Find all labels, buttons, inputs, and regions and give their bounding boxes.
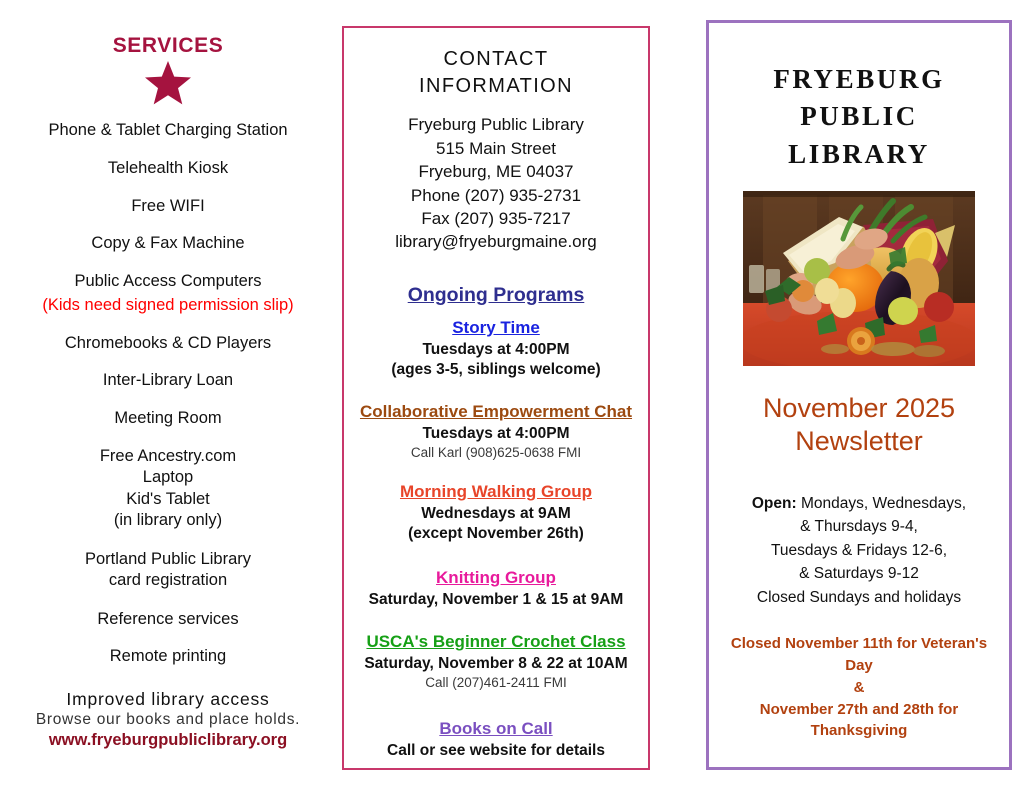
- hours-block: Open: Mondays, Wednesdays, & Thursdays 9…: [723, 492, 995, 610]
- program-contact-note: Call (207)461-2411 FMI: [356, 674, 636, 692]
- service-item: Reference services: [0, 609, 336, 630]
- hours-line: & Saturdays 9-12: [723, 562, 995, 586]
- title-line-public: PUBLIC: [723, 98, 995, 135]
- services-panel: SERVICES Phone & Tablet Charging Station…: [0, 30, 336, 770]
- service-device-line: Laptop: [0, 467, 336, 488]
- hours-open-label: Open:: [752, 495, 797, 512]
- star-icon: [0, 60, 336, 106]
- improved-access-subtext: Browse our books and place holds.: [0, 711, 336, 729]
- service-item: Free WIFI: [0, 196, 336, 217]
- closure-veterans-day: Closed November 11th for Veteran's Day: [723, 633, 995, 677]
- improved-access-heading: Improved library access: [0, 689, 336, 710]
- contact-fax: Fax (207) 935-7217: [356, 207, 636, 230]
- services-list: Phone & Tablet Charging Station Teleheal…: [0, 120, 336, 750]
- service-device-line: Kid's Tablet: [0, 489, 336, 510]
- service-item-public-computers: Public Access Computers: [0, 271, 336, 292]
- page-title: FRYEBURG PUBLIC LIBRARY: [723, 61, 995, 173]
- library-website-url[interactable]: www.fryeburgpubliclibrary.org: [0, 731, 336, 750]
- program-detail: (ages 3-5, siblings welcome): [356, 360, 636, 380]
- service-portland-block: Portland Public Library card registratio…: [0, 549, 336, 592]
- cover-panel: FRYEBURG PUBLIC LIBRARY: [706, 20, 1012, 770]
- service-device-line: Free Ancestry.com: [0, 446, 336, 467]
- harvest-cornucopia-photo: [743, 191, 975, 366]
- service-item: Meeting Room: [0, 408, 336, 429]
- program-title[interactable]: Knitting Group: [356, 568, 636, 588]
- program-schedule: Tuesdays at 4:00PM: [356, 424, 636, 444]
- service-item: Phone & Tablet Charging Station: [0, 120, 336, 141]
- closure-thanksgiving-line1: November 27th and 28th for: [723, 699, 995, 721]
- program-usca-crochet-class: USCA's Beginner Crochet Class Saturday, …: [356, 632, 636, 692]
- program-contact-note: Call Karl (908)625-0638 FMI: [356, 444, 636, 462]
- newsletter-month-line1: November 2025: [723, 392, 995, 425]
- hours-line: & Thursdays 9-4,: [723, 515, 995, 539]
- service-portland-line: card registration: [0, 570, 336, 591]
- ongoing-programs-heading: Ongoing Programs: [356, 284, 636, 307]
- title-line-library: LIBRARY: [723, 136, 995, 173]
- program-morning-walking-group: Morning Walking Group Wednesdays at 9AM …: [356, 482, 636, 544]
- contact-city-state-zip: Fryeburg, ME 04037: [356, 160, 636, 183]
- program-collaborative-empowerment-chat: Collaborative Empowerment Chat Tuesdays …: [356, 402, 636, 462]
- services-heading: SERVICES: [0, 34, 336, 58]
- service-item: Inter-Library Loan: [0, 370, 336, 391]
- program-story-time: Story Time Tuesdays at 4:00PM (ages 3-5,…: [356, 318, 636, 380]
- program-detail: Call or see website for details: [356, 741, 636, 761]
- program-books-on-call: Books on Call Call or see website for de…: [356, 719, 636, 761]
- program-title[interactable]: Collaborative Empowerment Chat: [356, 402, 636, 422]
- hours-first-line: Open: Mondays, Wednesdays,: [723, 492, 995, 516]
- service-device-line: (in library only): [0, 510, 336, 531]
- title-line-fryeburg: FRYEBURG: [723, 61, 995, 98]
- program-schedule: Saturday, November 1 & 15 at 9AM: [356, 590, 636, 610]
- contact-email[interactable]: library@fryeburgmaine.org: [356, 230, 636, 253]
- contact-panel: CONTACT INFORMATION Fryeburg Public Libr…: [342, 26, 650, 770]
- contact-heading: CONTACT INFORMATION: [356, 46, 636, 99]
- contact-heading-line1: CONTACT: [356, 46, 636, 73]
- service-item: Copy & Fax Machine: [0, 233, 336, 254]
- program-detail: (except November 26th): [356, 524, 636, 544]
- program-schedule: Tuesdays at 4:00PM: [356, 340, 636, 360]
- hours-closed-sundays: Closed Sundays and holidays: [723, 586, 995, 610]
- service-item: Remote printing: [0, 646, 336, 667]
- hours-line-text: Mondays, Wednesdays,: [801, 495, 966, 512]
- newsletter-month: November 2025 Newsletter: [723, 392, 995, 458]
- contact-library-name: Fryeburg Public Library: [356, 113, 636, 136]
- service-item: Chromebooks & CD Players: [0, 333, 336, 354]
- service-note-permission-slip: (Kids need signed permission slip): [0, 295, 336, 316]
- program-title[interactable]: USCA's Beginner Crochet Class: [356, 632, 636, 652]
- program-title[interactable]: Books on Call: [356, 719, 636, 739]
- contact-heading-line2: INFORMATION: [356, 73, 636, 100]
- service-item: Telehealth Kiosk: [0, 158, 336, 179]
- contact-phone: Phone (207) 935-2731: [356, 184, 636, 207]
- contact-street: 515 Main Street: [356, 137, 636, 160]
- newsletter-month-line2: Newsletter: [723, 425, 995, 458]
- contact-details: Fryeburg Public Library 515 Main Street …: [356, 113, 636, 254]
- service-portland-line: Portland Public Library: [0, 549, 336, 570]
- program-schedule: Saturday, November 8 & 22 at 10AM: [356, 654, 636, 674]
- program-title[interactable]: Morning Walking Group: [356, 482, 636, 502]
- program-knitting-group: Knitting Group Saturday, November 1 & 15…: [356, 568, 636, 610]
- hours-line: Tuesdays & Fridays 12-6,: [723, 539, 995, 563]
- holiday-closures: Closed November 11th for Veteran's Day &…: [723, 633, 995, 742]
- closure-ampersand: &: [723, 677, 995, 699]
- closure-thanksgiving-line2: Thanksgiving: [723, 720, 995, 742]
- service-devices-block: Free Ancestry.com Laptop Kid's Tablet (i…: [0, 446, 336, 532]
- program-schedule: Wednesdays at 9AM: [356, 504, 636, 524]
- program-title[interactable]: Story Time: [356, 318, 636, 338]
